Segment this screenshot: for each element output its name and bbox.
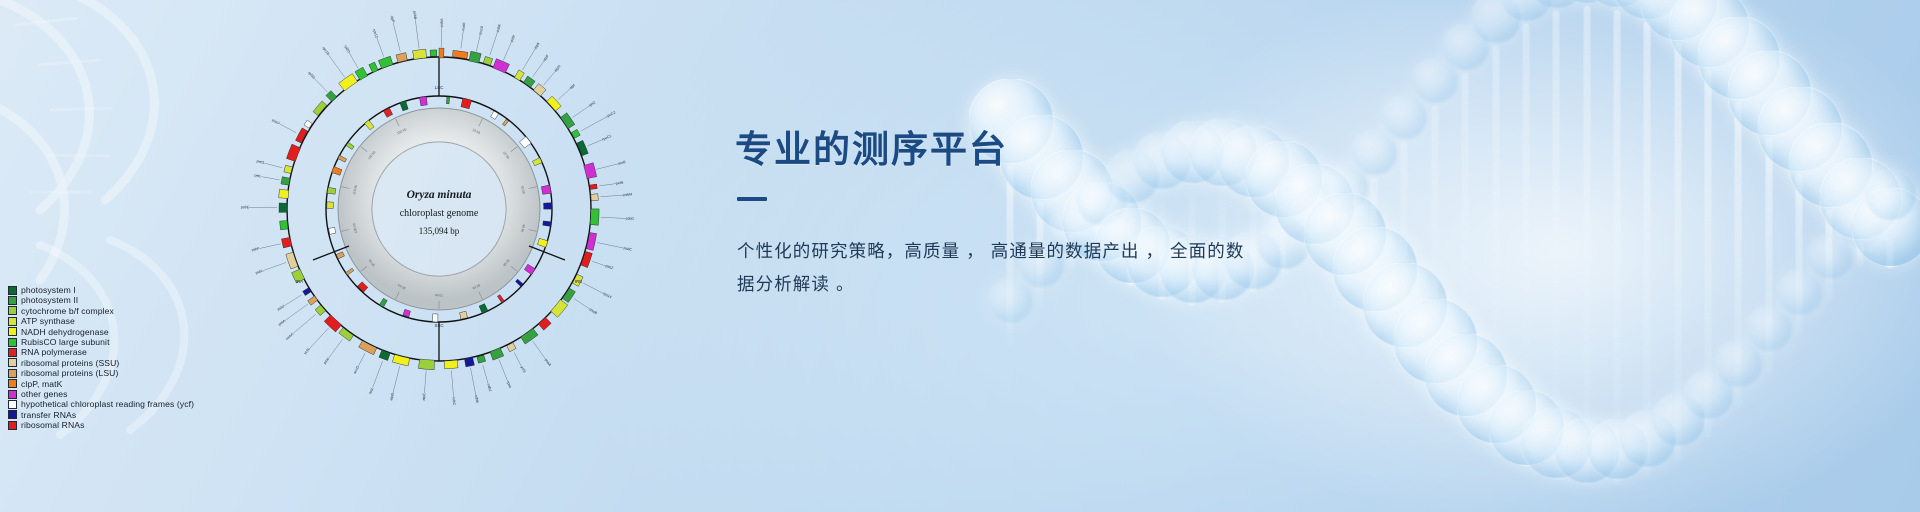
dna-rung (1401, 141, 1408, 329)
gene-label: psbK (496, 23, 503, 33)
gene-leader-line (596, 164, 618, 170)
genome-region-label: IRB (575, 279, 582, 284)
gene-feature (584, 163, 597, 179)
gene-feature (329, 227, 336, 234)
dna-bead (1352, 130, 1398, 176)
legend-color-swatch (8, 379, 17, 388)
gene-feature (562, 288, 575, 302)
dna-bead (1289, 193, 1340, 244)
legend-item: ribosomal RNAs (8, 420, 194, 430)
gene-leader-line (544, 72, 556, 86)
legend-color-swatch (8, 286, 17, 295)
legend-item: NADH dehydrogenase (8, 327, 194, 337)
gene-feature (544, 203, 553, 209)
gene-leader-line (592, 261, 605, 266)
gene-feature (286, 144, 300, 161)
gene-label: atpF (542, 53, 550, 62)
gene-feature (547, 96, 561, 111)
gene-feature (338, 155, 347, 162)
gene-feature (590, 184, 598, 189)
dna-bead (1684, 370, 1734, 420)
title-divider (737, 197, 767, 201)
gene-label: rpoB (618, 160, 627, 166)
dna-rung (1674, 42, 1681, 461)
gene-label: psbE (241, 205, 250, 209)
gene-label: rbcL (368, 387, 374, 395)
gene-label: atpE (422, 392, 427, 400)
legend-item: RubisCO large subunit (8, 337, 194, 347)
gene-feature (308, 296, 318, 305)
gene-label: petL (254, 173, 262, 178)
gene-leader-line (284, 295, 301, 306)
gene-feature (324, 315, 341, 332)
gene-feature (355, 67, 368, 80)
gene-label: rps4 (506, 381, 512, 389)
gene-leader-line (264, 163, 282, 168)
dna-bead (1424, 333, 1507, 416)
gene-feature (378, 56, 393, 68)
gene-leader-line (533, 341, 546, 359)
gene-label: psaB (589, 307, 599, 315)
gene-feature (281, 177, 290, 186)
gene-leader-line (483, 365, 488, 384)
legend-item: ATP synthase (8, 316, 194, 326)
legend-item: ribosomal proteins (SSU) (8, 358, 194, 368)
gene-feature (413, 49, 427, 59)
dna-bead (1527, 0, 1587, 9)
legend-item-label: ribosomal proteins (LSU) (21, 368, 118, 378)
gene-feature (538, 317, 551, 330)
gene-leader-line (471, 368, 476, 395)
gene-label: psbJ (277, 304, 286, 312)
gene-leader-line (588, 140, 602, 146)
legend-color-swatch (8, 369, 17, 378)
gene-feature (590, 209, 599, 225)
legend-color-swatch (8, 327, 17, 336)
gene-leader-line (581, 117, 607, 131)
dna-bead (1521, 407, 1593, 479)
gene-feature (439, 48, 444, 58)
dna-bead (1412, 58, 1459, 105)
dna-rung (1644, 22, 1651, 478)
legend-item: RNA polymerase (8, 347, 194, 357)
gene-leader-line (349, 53, 358, 69)
gene-leader-line (329, 339, 343, 358)
gene-leader-line (451, 371, 453, 397)
gene-leader-line (263, 263, 286, 271)
gene-feature (392, 354, 409, 365)
gene-label: rps14 (603, 292, 613, 300)
gene-feature (279, 189, 289, 198)
dna-bead (1640, 0, 1718, 41)
gene-label: psbI (510, 35, 516, 43)
dna-rung (1553, 10, 1560, 474)
legend-item-label: hypothetical chloroplast reading frames … (21, 399, 194, 409)
gene-feature (560, 113, 574, 129)
dna-bead (1321, 164, 1369, 212)
gene-leader-line (573, 106, 590, 117)
gene-label: psaJ (271, 118, 280, 125)
gene-feature (400, 101, 408, 111)
gene-feature (460, 311, 468, 319)
gene-leader-line (261, 177, 279, 180)
chloroplast-genome-map: psbAmatKrps16psbKpsbIatpAatpFatpHatpIrps… (236, 6, 642, 412)
hero-paragraph: 个性化的研究策略，高质量 ， 高通量的数据产出 ， 全面的数据分析解读 。 (737, 235, 1253, 301)
gene-feature (444, 360, 458, 369)
dna-bead (1499, 0, 1554, 22)
gene-leader-line (533, 61, 544, 77)
dna-bead (1697, 16, 1781, 100)
genome-length-label: 135,094 bp (419, 226, 460, 236)
gene-feature (551, 300, 568, 318)
genome-region-label: LSC (435, 85, 444, 90)
dna-bead (1611, 0, 1685, 20)
gene-leader-line (279, 124, 296, 133)
dna-rung (1310, 231, 1317, 245)
dna-bead (1393, 298, 1478, 383)
dna-bead (1865, 169, 1917, 221)
dna-bead (1652, 393, 1706, 447)
legend-color-swatch (8, 348, 17, 357)
dna-rung (1704, 69, 1711, 437)
gene-feature (430, 50, 437, 56)
legend-color-swatch (8, 390, 17, 399)
gene-feature (537, 238, 547, 247)
gene-label: rps2 (588, 100, 596, 107)
gene-label: psbA (440, 18, 444, 27)
gene-feature (541, 185, 551, 194)
gene-leader-line (415, 19, 419, 48)
dna-bead (1746, 306, 1792, 352)
dna-rung (1887, 237, 1894, 269)
dna-bead (1456, 364, 1537, 445)
gene-feature (497, 295, 504, 303)
gene-label: matK (461, 22, 466, 31)
genome-region-label: IRA (296, 279, 303, 284)
gene-leader-line (314, 78, 327, 92)
dna-rung (1826, 209, 1833, 301)
gene-label: psbB (412, 11, 417, 20)
legend-color-swatch (8, 338, 17, 347)
gene-leader-line (499, 360, 508, 382)
gene-feature (502, 119, 508, 126)
gene-label: psaI (323, 357, 330, 365)
legend-item: photosystem I (8, 285, 194, 295)
dna-bead (1362, 262, 1448, 348)
gene-label: petA (278, 319, 287, 327)
dna-bead (1382, 94, 1428, 140)
legend-item-label: RNA polymerase (21, 347, 87, 357)
gene-leader-line (599, 184, 616, 186)
legend-item: clpP, matK (8, 379, 194, 389)
legend-item-label: photosystem II (21, 295, 78, 305)
dna-rung (1371, 178, 1378, 294)
legend-color-swatch (8, 358, 17, 367)
gene-leader-line (583, 283, 603, 293)
gene-feature (327, 202, 334, 209)
gene-label: atpB (389, 392, 395, 401)
legend-color-swatch (8, 306, 17, 315)
dna-rung (1765, 137, 1772, 374)
dna-bead (1554, 417, 1622, 485)
gene-label: rps16 (478, 26, 484, 36)
dna-bead (1836, 199, 1885, 248)
legend-item-label: clpP, matK (21, 379, 62, 389)
gene-leader-line (522, 49, 535, 70)
hero-copy-block: 专业的测序平台 个性化的研究策略，高质量 ， 高通量的数据产出 ， 全面的数据分… (735, 130, 1275, 301)
gene-feature (279, 203, 287, 212)
gene-label: psbF (251, 246, 260, 252)
legend-color-swatch (8, 317, 17, 326)
gene-leader-line (514, 353, 521, 367)
gene-label: ndhC (452, 397, 457, 406)
gene-leader-line (598, 243, 624, 249)
legend-item-label: NADH dehydrogenase (21, 327, 109, 337)
legend-item: photosystem II (8, 295, 194, 305)
dna-rung (1856, 241, 1863, 266)
gene-label: rpoC2 (606, 110, 617, 118)
gene-feature (432, 314, 438, 322)
gene-label: petN (616, 180, 624, 185)
gene-feature (519, 137, 531, 149)
legend-color-swatch (8, 410, 17, 419)
gene-feature (419, 96, 427, 105)
dna-bead (1807, 234, 1854, 281)
legend-item-label: RubisCO large subunit (21, 337, 110, 347)
page-title: 专业的测序平台 (735, 130, 1275, 171)
gene-feature (365, 120, 375, 130)
gene-label: psbZ (605, 264, 615, 271)
gene-feature (379, 350, 390, 361)
dna-bead (1303, 192, 1387, 276)
gene-leader-line (503, 42, 511, 61)
gene-leader-line (328, 55, 344, 78)
gene-leader-line (558, 89, 570, 100)
dna-bead (1471, 0, 1522, 44)
gene-leader-line (574, 299, 590, 310)
gene-feature (280, 221, 288, 230)
gene-leader-line (601, 195, 624, 197)
dna-bead (1555, 0, 1619, 4)
dna-bead (1583, 0, 1652, 8)
gene-leader-line (377, 38, 384, 57)
gene-feature (315, 305, 326, 316)
gene-label: psbM (623, 192, 632, 197)
dna-rung (1280, 208, 1287, 272)
gene-leader-line (424, 371, 426, 394)
gene-label: psbC (623, 246, 632, 252)
gene-feature (418, 359, 434, 370)
gene-feature (326, 91, 337, 102)
dna-bead (1488, 389, 1565, 466)
gene-label: rpoC1 (602, 134, 613, 142)
gene-leader-line (601, 217, 626, 218)
legend-item: other genes (8, 389, 194, 399)
gene-label: psaA (544, 358, 552, 367)
gene-leader-line (393, 23, 400, 52)
gene-label: atpA (533, 41, 541, 50)
gene-feature (493, 59, 510, 73)
dna-bead (1715, 340, 1763, 388)
gene-feature (464, 357, 474, 367)
gene-leader-line (260, 244, 281, 249)
gene-feature (284, 165, 293, 173)
dna-rung (1431, 106, 1438, 366)
genome-region-label: SSC (434, 323, 443, 328)
legend-item-label: ribosomal proteins (SSU) (21, 358, 119, 368)
dna-bead (1757, 86, 1843, 172)
gene-leader-line (285, 304, 308, 321)
gene-feature (586, 233, 596, 251)
gene-label: ndhK (474, 394, 480, 404)
gene-label: rpl20 (343, 45, 350, 54)
gene-leader-line (358, 353, 365, 366)
dna-bead (1727, 50, 1813, 136)
gene-label: atpH (554, 64, 562, 73)
legend-item-label: ribosomal RNAs (21, 420, 84, 430)
legend-item-label: other genes (21, 389, 68, 399)
gene-leader-line (476, 35, 480, 51)
gene-label: clpP (390, 15, 396, 23)
dna-rung (1462, 73, 1469, 401)
gene-feature (591, 194, 599, 201)
dna-bead (1619, 410, 1677, 468)
dna-bead (1274, 163, 1355, 244)
gene-feature (446, 97, 449, 104)
gene-label: rps18 (321, 46, 329, 56)
gene-feature (533, 84, 546, 97)
legend-item: cytochrome b/f complex (8, 306, 194, 316)
gene-leader-line (490, 32, 498, 55)
gene-label: petG (256, 159, 265, 165)
dna-bead (1587, 418, 1650, 481)
legend-color-swatch (8, 421, 17, 430)
dna-rung (1583, 5, 1590, 484)
gene-label: psbL (255, 269, 264, 275)
gene-label: rps12 (372, 29, 379, 39)
dna-rung (1735, 102, 1742, 408)
gene-feature (332, 167, 342, 176)
hero-banner: psbAmatKrps16psbKpsbIatpAatpFatpHatpIrps… (0, 0, 1920, 512)
legend-item: transfer RNAs (8, 410, 194, 420)
legend-item-label: ATP synthase (21, 316, 75, 326)
legend-item: ribosomal proteins (LSU) (8, 368, 194, 378)
gene-feature (346, 268, 354, 275)
gene-feature (543, 221, 552, 227)
dna-bead (1851, 187, 1920, 267)
gene-feature (358, 282, 368, 292)
dna-bead (1668, 0, 1750, 68)
gene-feature (281, 237, 291, 248)
gene-feature (515, 279, 523, 286)
gene-label: ndhJ (486, 383, 492, 392)
gene-leader-line (461, 31, 463, 49)
legend-item-label: transfer RNAs (21, 410, 76, 420)
gene-label: ycf3 (520, 366, 527, 374)
dna-rung (1522, 24, 1529, 457)
dna-bead (1788, 122, 1873, 207)
gene-label: psbD (626, 216, 635, 220)
dna-rung (1795, 174, 1802, 338)
dna-bead (1777, 270, 1823, 316)
gene-leader-line (393, 366, 400, 393)
legend-item-label: photosystem I (21, 285, 76, 295)
gene-feature (469, 51, 481, 63)
dna-bead (1442, 23, 1491, 72)
gene-feature (327, 187, 336, 194)
gene-label: accD (353, 365, 360, 374)
gene-feature (523, 76, 535, 87)
gene-feature (490, 348, 504, 360)
genome-legend: photosystem Iphotosystem IIcytochrome b/… (8, 285, 194, 430)
gene-feature (339, 74, 358, 91)
gene-leader-line (309, 328, 329, 349)
legend-item: hypothetical chloroplast reading frames … (8, 399, 194, 409)
dna-rung (1613, 9, 1620, 485)
dna-bead (1819, 157, 1902, 240)
gene-feature (524, 264, 535, 274)
gene-leader-line (293, 314, 316, 333)
genome-organism-label: Oryza minuta (407, 189, 472, 201)
gene-feature (461, 98, 472, 109)
legend-color-swatch (8, 400, 17, 409)
gene-feature (514, 70, 524, 81)
kb-tick-label: 70 kb (435, 293, 443, 297)
dna-rung (1492, 45, 1499, 431)
dna-rung (1340, 213, 1347, 260)
legend-color-swatch (8, 296, 17, 305)
gene-label: atpI (569, 83, 576, 90)
legend-item-label: cytochrome b/f complex (21, 306, 114, 316)
gene-label: cemA (285, 332, 295, 341)
dna-bead (1332, 226, 1418, 312)
genome-type-label: chloroplast genome (400, 208, 479, 219)
gene-leader-line (373, 361, 383, 388)
